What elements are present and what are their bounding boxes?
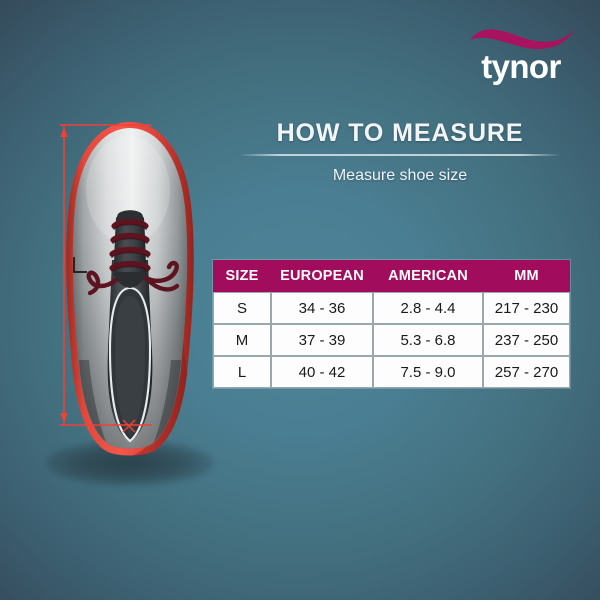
cell-european: 40 - 42 <box>271 356 373 388</box>
measurement-dimension-arrow <box>40 110 220 490</box>
column-header-mm: MM <box>483 260 570 292</box>
table-row: S 34 - 36 2.8 - 4.4 217 - 230 <box>213 292 570 324</box>
brand-wordmark: tynor <box>462 48 580 86</box>
cell-mm: 217 - 230 <box>483 292 570 324</box>
cell-mm: 237 - 250 <box>483 324 570 356</box>
cell-european: 37 - 39 <box>271 324 373 356</box>
cell-size: M <box>213 324 271 356</box>
page-subtitle: Measure shoe size <box>215 166 585 186</box>
cell-european: 34 - 36 <box>271 292 373 324</box>
shoe-illustration <box>40 110 220 490</box>
table-row: M 37 - 39 5.3 - 6.8 237 - 250 <box>213 324 570 356</box>
table-header-row: SIZE EUROPEAN AMERICAN MM <box>213 260 570 292</box>
cell-american: 5.3 - 6.8 <box>373 324 483 356</box>
table-row: L 40 - 42 7.5 - 9.0 257 - 270 <box>213 356 570 388</box>
title-divider <box>241 154 559 156</box>
cell-american: 7.5 - 9.0 <box>373 356 483 388</box>
size-chart-canvas: tynor HOW TO MEASURE Measure shoe size <box>0 0 600 600</box>
cell-american: 2.8 - 4.4 <box>373 292 483 324</box>
cell-size: L <box>213 356 271 388</box>
page-title: HOW TO MEASURE <box>215 118 585 148</box>
cell-mm: 257 - 270 <box>483 356 570 388</box>
column-header-european: EUROPEAN <box>271 260 373 292</box>
column-header-american: AMERICAN <box>373 260 483 292</box>
column-header-size: SIZE <box>213 260 271 292</box>
cell-size: S <box>213 292 271 324</box>
heading-block: HOW TO MEASURE Measure shoe size <box>215 118 585 186</box>
brand-logo: tynor <box>462 22 580 90</box>
size-chart-table: SIZE EUROPEAN AMERICAN MM S 34 - 36 2.8 … <box>213 260 570 388</box>
